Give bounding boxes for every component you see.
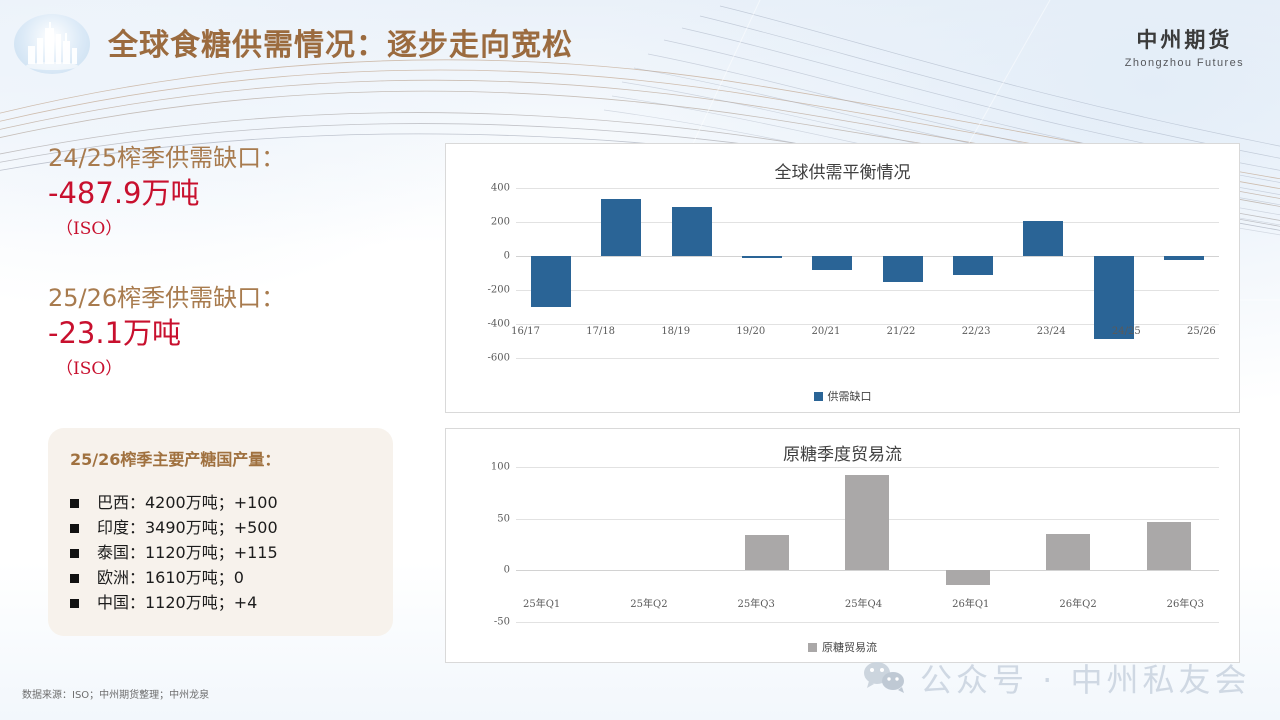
- legend-swatch-icon: [808, 643, 817, 652]
- bar: [672, 207, 712, 256]
- x-axis-tick-label: 26年Q1: [917, 595, 1024, 610]
- x-axis-tick-label: 20/21: [788, 326, 863, 337]
- x-axis-tick-label: 18/19: [638, 326, 713, 337]
- page-title: 全球食糖供需情况：逐步走向宽松: [108, 20, 573, 64]
- list-item-label: 印度：3490万吨；+500: [97, 515, 278, 540]
- list-item: 中国：1120万吨；+4: [70, 590, 278, 615]
- watermark-label: 公众号 · 中州私友会: [920, 655, 1251, 701]
- bar: [946, 570, 990, 584]
- chart-legend: 供需缺口: [446, 388, 1239, 404]
- stat-value: -487.9万吨: [48, 175, 285, 213]
- x-axis-tick-label: 16/17: [488, 326, 563, 337]
- list-item-label: 巴西：4200万吨；+100: [97, 490, 278, 515]
- y-axis-tick-label: 0: [474, 565, 510, 576]
- x-axis-tick-label: 25/26: [1164, 326, 1239, 337]
- bar: [845, 475, 889, 570]
- list-item-label: 中国：1120万吨；+4: [97, 590, 257, 615]
- y-axis-tick-label: 0: [474, 251, 510, 262]
- chart-legend: 原糖贸易流: [446, 639, 1239, 655]
- x-axis-tick-label: 22/23: [939, 326, 1014, 337]
- gridline: [516, 358, 1219, 359]
- bar: [531, 256, 571, 307]
- chart-title: 原糖季度贸易流: [446, 440, 1239, 465]
- chart-x-axis: 16/1717/1818/1919/2020/2121/2222/2323/24…: [488, 326, 1239, 337]
- y-axis-tick-label: 100: [474, 462, 510, 473]
- y-axis-tick-label: -50: [474, 617, 510, 628]
- bar: [745, 535, 789, 570]
- y-axis-tick-label: 200: [474, 217, 510, 228]
- brand-logo: 中州期货 Zhongzhou Futures: [1125, 24, 1244, 69]
- square-bullet-icon: [70, 599, 79, 608]
- x-axis-tick-label: 26年Q3: [1132, 595, 1239, 610]
- list-item-label: 泰国：1120万吨；+115: [97, 540, 278, 565]
- chart-x-axis: 25年Q125年Q225年Q325年Q426年Q126年Q226年Q3: [488, 595, 1239, 610]
- x-axis-tick-label: 17/18: [563, 326, 638, 337]
- slide-header: 全球食糖供需情况：逐步走向宽松 中州期货 Zhongzhou Futures: [0, 0, 1280, 100]
- card-title: 25/26榨季主要产糖国产量：: [70, 446, 280, 470]
- bar: [1046, 534, 1090, 570]
- x-axis-tick-label: 25年Q3: [703, 595, 810, 610]
- stat-heading: 25/26榨季供需缺口：: [48, 283, 285, 313]
- x-axis-tick-label: 25年Q4: [810, 595, 917, 610]
- square-bullet-icon: [70, 524, 79, 533]
- x-axis-tick-label: 26年Q2: [1024, 595, 1131, 610]
- brand-name-cn: 中州期货: [1125, 24, 1244, 54]
- legend-label: 供需缺口: [828, 388, 872, 404]
- bar: [812, 256, 852, 270]
- chart-panel-supply-demand: 全球供需平衡情况 4002000-200-400-600 16/1717/181…: [445, 143, 1240, 413]
- chart-title: 全球供需平衡情况: [446, 158, 1239, 183]
- x-axis-tick-label: 21/22: [863, 326, 938, 337]
- stat-value: -23.1万吨: [48, 315, 285, 353]
- stat-heading: 24/25榨季供需缺口：: [48, 143, 285, 173]
- bar: [1164, 256, 1204, 260]
- wechat-icon: [862, 660, 908, 696]
- stat-source: （ISO）: [56, 354, 285, 379]
- list-item: 印度：3490万吨；+500: [70, 515, 278, 540]
- y-axis-tick-label: 400: [474, 183, 510, 194]
- producer-list: 巴西：4200万吨；+100 印度：3490万吨；+500 泰国：1120万吨；…: [70, 490, 278, 615]
- stat-block-2526: 25/26榨季供需缺口： -23.1万吨 （ISO）: [48, 283, 285, 379]
- legend-label: 原糖贸易流: [822, 639, 877, 655]
- stat-source: （ISO）: [56, 214, 285, 239]
- y-axis-tick-label: -600: [474, 353, 510, 364]
- y-axis-tick-label: 50: [474, 513, 510, 524]
- list-item: 泰国：1120万吨；+115: [70, 540, 278, 565]
- list-item: 巴西：4200万吨；+100: [70, 490, 278, 515]
- list-item: 欧洲：1610万吨；0: [70, 565, 278, 590]
- bar: [883, 256, 923, 282]
- y-axis-tick-label: -200: [474, 285, 510, 296]
- data-source-note: 数据来源：ISO；中州期货整理；中州龙泉: [22, 686, 209, 701]
- bar: [1023, 221, 1063, 256]
- gridline: [516, 622, 1219, 623]
- chart-panel-trade-flow: 原糖季度贸易流 100500-50 25年Q125年Q225年Q325年Q426…: [445, 428, 1240, 663]
- x-axis-tick-label: 24/25: [1089, 326, 1164, 337]
- bar: [1147, 522, 1191, 571]
- brand-name-en: Zhongzhou Futures: [1125, 57, 1244, 69]
- x-axis-tick-label: 25年Q1: [488, 595, 595, 610]
- producer-output-card: 25/26榨季主要产糖国产量： 巴西：4200万吨；+100 印度：3490万吨…: [48, 428, 393, 636]
- square-bullet-icon: [70, 499, 79, 508]
- bar: [742, 256, 782, 258]
- legend-swatch-icon: [814, 392, 823, 401]
- city-skyline-emblem-icon: [14, 14, 90, 74]
- stat-block-2425: 24/25榨季供需缺口： -487.9万吨 （ISO）: [48, 143, 285, 239]
- list-item-label: 欧洲：1610万吨；0: [97, 565, 244, 590]
- square-bullet-icon: [70, 549, 79, 558]
- x-axis-tick-label: 19/20: [713, 326, 788, 337]
- x-axis-tick-label: 23/24: [1014, 326, 1089, 337]
- bar: [601, 199, 641, 256]
- wechat-watermark: 公众号 · 中州私友会: [862, 655, 1251, 701]
- x-axis-tick-label: 25年Q2: [595, 595, 702, 610]
- bar: [953, 256, 993, 275]
- square-bullet-icon: [70, 574, 79, 583]
